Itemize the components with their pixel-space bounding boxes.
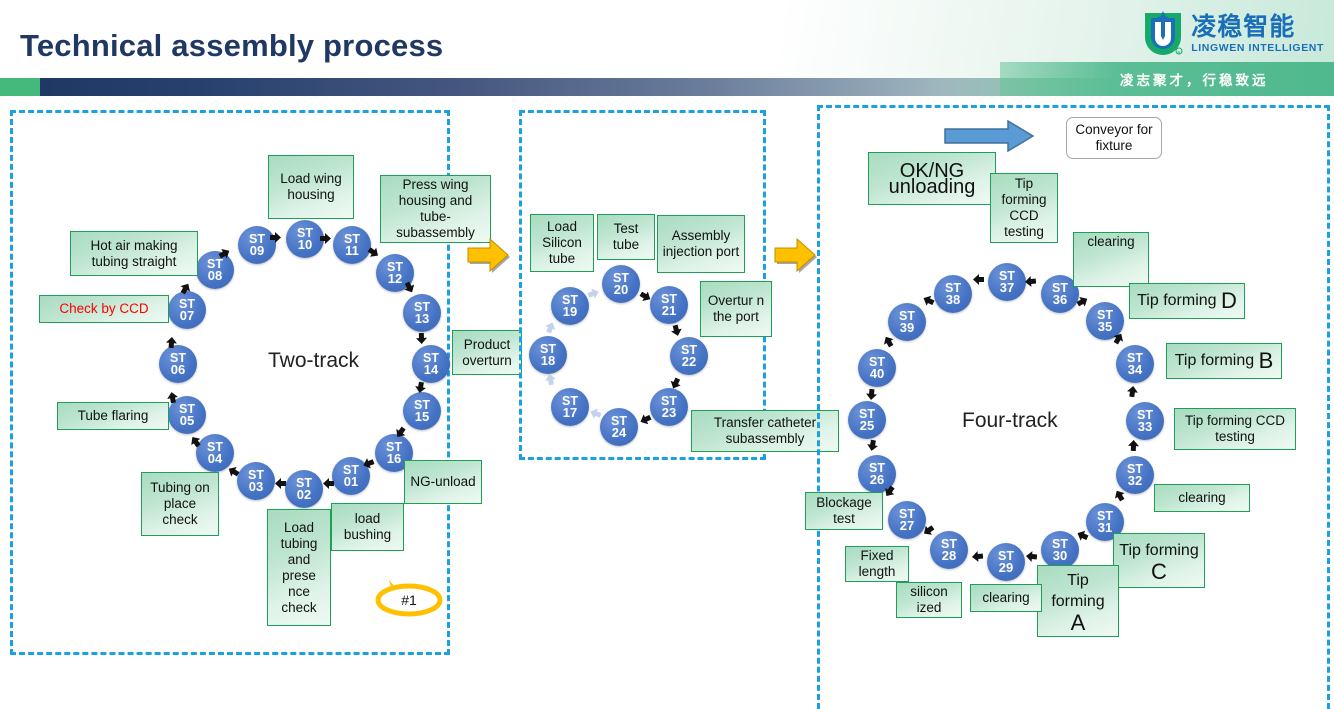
station-number: 26 [870,474,884,486]
tip-forming-b-text: Tip forming [1175,353,1254,369]
station-number: 11 [345,245,359,257]
station-node-st04[interactable]: ST04 [196,434,234,472]
label-box-press-wing-housing[interactable]: Press wing housing and tube-subassembly [380,175,491,243]
tip-forming-c-text: Tip forming [1119,540,1198,561]
lingwen-shield-icon: R [1142,11,1184,57]
station-number: 40 [870,368,884,380]
conveyor-arrow-blue [944,120,1034,152]
flow-arrow-icon [866,389,878,401]
label-box-tip-forming-d[interactable]: Tip forming D [1129,283,1245,319]
station-node-st23[interactable]: ST23 [650,388,688,426]
station-number: 24 [612,427,626,439]
station-node-st27[interactable]: ST27 [888,501,926,539]
page-title: Technical assembly process [20,28,443,64]
station-node-st29[interactable]: ST29 [987,543,1025,581]
station-number: 27 [900,520,914,532]
flow-arrow-orange-1 [466,236,510,274]
label-box-tube-flaring[interactable]: Tube flaring [57,402,169,430]
station-number: 03 [249,481,263,493]
station-number: 10 [298,239,312,251]
label-box-ok-ng-unloading[interactable]: OK/NG unloading [868,152,996,205]
flow-arrow-icon [323,478,334,489]
station-number: 31 [1098,522,1112,534]
flow-arrow-icon [972,551,984,563]
label-box-clearing-right[interactable]: clearing [1154,484,1250,512]
station-number: 17 [563,407,577,419]
station-node-st30[interactable]: ST30 [1041,531,1079,569]
station-number: 35 [1098,321,1112,333]
station-node-st13[interactable]: ST13 [403,294,441,332]
station-node-st33[interactable]: ST33 [1126,402,1164,440]
label-box-tubing-on-place-check[interactable]: Tubing on place check [141,472,219,536]
station-number: 19 [563,306,577,318]
station-number: 32 [1128,475,1142,487]
flow-arrow-icon [416,333,427,344]
station-node-st17[interactable]: ST17 [551,388,589,426]
label-box-load-bushing[interactable]: load bushing [331,503,404,551]
flow-arrow-icon [414,381,427,394]
station-number: 12 [388,273,402,285]
station-number: 25 [860,420,874,432]
station-number: 36 [1053,294,1067,306]
tip-forming-a-letter: A [1071,612,1086,633]
station-node-st02[interactable]: ST02 [285,470,323,508]
flow-arrow-orange-2 [773,236,817,274]
station-number: 37 [1000,282,1014,294]
flow-arrow-icon [1126,385,1138,397]
label-box-product-overturn[interactable]: Product overturn [452,330,522,375]
station-number: 30 [1053,550,1067,562]
label-box-conveyor-for-fixture[interactable]: Conveyor for fixture [1066,117,1162,159]
station-number: 07 [180,310,194,322]
label-box-load-silicon-tube[interactable]: Load Silicon tube [530,214,594,272]
station-number: 06 [171,364,185,376]
station-number: 05 [180,415,194,427]
label-box-tip-forming-a[interactable]: Tip formingA [1037,565,1119,637]
flow-arrow-icon [270,232,281,243]
station-number: 34 [1128,364,1142,376]
station-number: 39 [900,322,914,334]
label-box-clearing-top[interactable]: clearing [1073,232,1149,287]
flow-arrow-icon [866,439,879,452]
station-node-st07[interactable]: ST07 [168,291,206,329]
station-number: 01 [344,476,358,488]
label-box-load-tubing-presence-check[interactable]: Load tubing and prese nce check [267,509,331,626]
station-node-st24[interactable]: ST24 [600,408,638,446]
logo-name-en: LINGWEN INTELLIGENT [1191,43,1324,54]
label-box-tip-forming-c[interactable]: Tip formingC [1113,533,1205,588]
flow-arrow-icon [544,373,557,386]
label-box-ng-unload[interactable]: NG-unload [404,460,482,504]
station-node-st22[interactable]: ST22 [670,337,708,375]
callout-label-1: #1 [375,590,443,610]
flow-arrow-icon [1128,440,1139,451]
station-number: 28 [942,550,956,562]
label-box-load-wing-housing[interactable]: Load wing housing [268,155,354,219]
station-node-st10[interactable]: ST10 [286,220,324,258]
station-node-st21[interactable]: ST21 [650,286,688,324]
tip-forming-d-letter: D [1221,293,1237,309]
station-number: 22 [682,356,696,368]
label-box-check-by-ccd[interactable]: Check by CCD [39,295,169,323]
station-node-st38[interactable]: ST38 [934,275,972,313]
station-number: 04 [208,453,222,465]
station-number: 23 [662,407,676,419]
label-box-blockage-test[interactable]: Blockage test [805,492,883,530]
station-number: 20 [614,284,628,296]
tip-forming-d-text: Tip forming [1137,293,1216,309]
station-number: 21 [662,305,676,317]
company-logo: R 凌稳智能 LINGWEN INTELLIGENT [1142,8,1324,60]
flow-arrow-icon [320,233,331,244]
flow-arrow-icon [1025,276,1037,288]
label-box-clearing-bottom[interactable]: clearing [970,584,1042,612]
label-box-assembly-injection-port[interactable]: Assembly injection port [657,215,745,273]
tip-forming-a-text: Tip forming [1041,570,1115,612]
station-node-st28[interactable]: ST28 [930,531,968,569]
station-number: 29 [999,562,1013,574]
station-number: 08 [208,270,222,282]
station-node-st15[interactable]: ST15 [403,392,441,430]
flow-arrow-icon [1026,551,1038,563]
station-number: 09 [250,245,264,257]
station-number: 14 [424,364,438,376]
bar-green-segment [0,78,40,96]
station-node-st19[interactable]: ST19 [551,287,589,325]
station-number: 02 [297,489,311,501]
station-node-st03[interactable]: ST03 [237,462,275,500]
label-box-tip-forming-ccd-testing-right[interactable]: Tip forming CCD testing [1174,408,1296,450]
station-number: 33 [1138,421,1152,433]
station-node-st14[interactable]: ST14 [412,345,450,383]
flow-arrow-icon [973,274,984,285]
logo-name-cn: 凌稳智能 [1191,15,1295,40]
label-box-overturn-the-port[interactable]: Overtur n the port [700,281,772,337]
station-node-st34[interactable]: ST34 [1116,345,1154,383]
station-number: 16 [387,453,401,465]
tip-forming-c-letter: C [1151,561,1167,582]
station-number: 13 [415,313,429,325]
logo-wordmark: 凌稳智能 LINGWEN INTELLIGENT [1191,15,1324,54]
flow-arrow-icon [275,478,286,489]
station-number: 38 [946,294,960,306]
station-node-st18[interactable]: ST18 [529,336,567,374]
station-number: 18 [541,355,555,367]
label-box-tip-forming-b[interactable]: Tip forming B [1166,343,1282,379]
station-node-st06[interactable]: ST06 [159,345,197,383]
ring-title-two-track: Two-track [268,349,359,373]
station-node-st39[interactable]: ST39 [888,303,926,341]
label-box-siliconized[interactable]: silicon ized [896,582,962,618]
company-tagline: 凌志聚才，行稳致远 [1120,69,1325,89]
station-node-st11[interactable]: ST11 [333,226,371,264]
station-node-st40[interactable]: ST40 [858,349,896,387]
station-number: 15 [415,411,429,423]
station-node-st37[interactable]: ST37 [988,263,1026,301]
label-box-hot-air[interactable]: Hot air making tubing straight [70,231,198,276]
station-node-st20[interactable]: ST20 [602,265,640,303]
ring-title-four-track: Four-track [962,409,1058,433]
tip-forming-b-letter: B [1259,353,1274,369]
label-box-tip-forming-ccd-testing-top[interactable]: Tip forming CCD testing [990,173,1058,243]
station-node-st25[interactable]: ST25 [848,401,886,439]
label-box-fixed-length[interactable]: Fixed length [845,546,909,582]
label-box-test-tube[interactable]: Test tube [597,214,655,260]
flow-arrow-icon [166,337,178,349]
svg-text:R: R [1178,50,1181,55]
